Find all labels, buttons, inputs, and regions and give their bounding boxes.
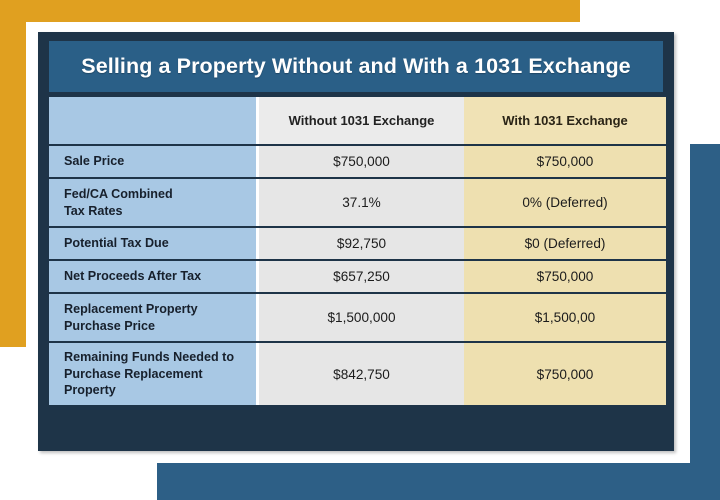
table-row: Fed/CA CombinedTax Rates37.1%0% (Deferre… <box>49 179 666 226</box>
table-row: Remaining Funds Needed toPurchase Replac… <box>49 343 666 405</box>
cell-with-1031: $750,000 <box>464 261 666 292</box>
cell-without-1031: $92,750 <box>259 228 464 259</box>
cell-without-1031: $842,750 <box>259 343 464 405</box>
row-label: Net Proceeds After Tax <box>49 261 256 292</box>
table-header-row: Without 1031 Exchange With 1031 Exchange <box>49 97 666 144</box>
row-label: Fed/CA CombinedTax Rates <box>49 179 256 226</box>
cell-with-1031: 0% (Deferred) <box>464 179 666 226</box>
cell-without-1031: 37.1% <box>259 179 464 226</box>
decorative-blue-block-right <box>690 144 720 474</box>
decorative-blue-block-bottom <box>157 463 720 500</box>
table-row: Potential Tax Due$92,750$0 (Deferred) <box>49 228 666 259</box>
column-header-label <box>49 97 256 144</box>
row-label: Potential Tax Due <box>49 228 256 259</box>
cell-with-1031: $750,000 <box>464 146 666 177</box>
comparison-card: Selling a Property Without and With a 10… <box>38 32 674 451</box>
table-row: Replacement PropertyPurchase Price$1,500… <box>49 294 666 341</box>
row-label: Remaining Funds Needed toPurchase Replac… <box>49 343 256 405</box>
cell-without-1031: $657,250 <box>259 261 464 292</box>
comparison-table: Without 1031 Exchange With 1031 Exchange… <box>49 95 666 407</box>
column-header-with-1031: With 1031 Exchange <box>464 97 666 144</box>
table-body: Sale Price$750,000$750,000Fed/CA Combine… <box>49 146 666 405</box>
cell-without-1031: $1,500,000 <box>259 294 464 341</box>
cell-with-1031: $1,500,00 <box>464 294 666 341</box>
title-band: Selling a Property Without and With a 10… <box>49 41 663 92</box>
cell-without-1031: $750,000 <box>259 146 464 177</box>
table-row: Sale Price$750,000$750,000 <box>49 146 666 177</box>
row-label: Replacement PropertyPurchase Price <box>49 294 256 341</box>
column-header-without-1031: Without 1031 Exchange <box>259 97 464 144</box>
cell-with-1031: $750,000 <box>464 343 666 405</box>
page-title: Selling a Property Without and With a 10… <box>81 54 631 79</box>
cell-with-1031: $0 (Deferred) <box>464 228 666 259</box>
row-label: Sale Price <box>49 146 256 177</box>
table-row: Net Proceeds After Tax$657,250$750,000 <box>49 261 666 292</box>
